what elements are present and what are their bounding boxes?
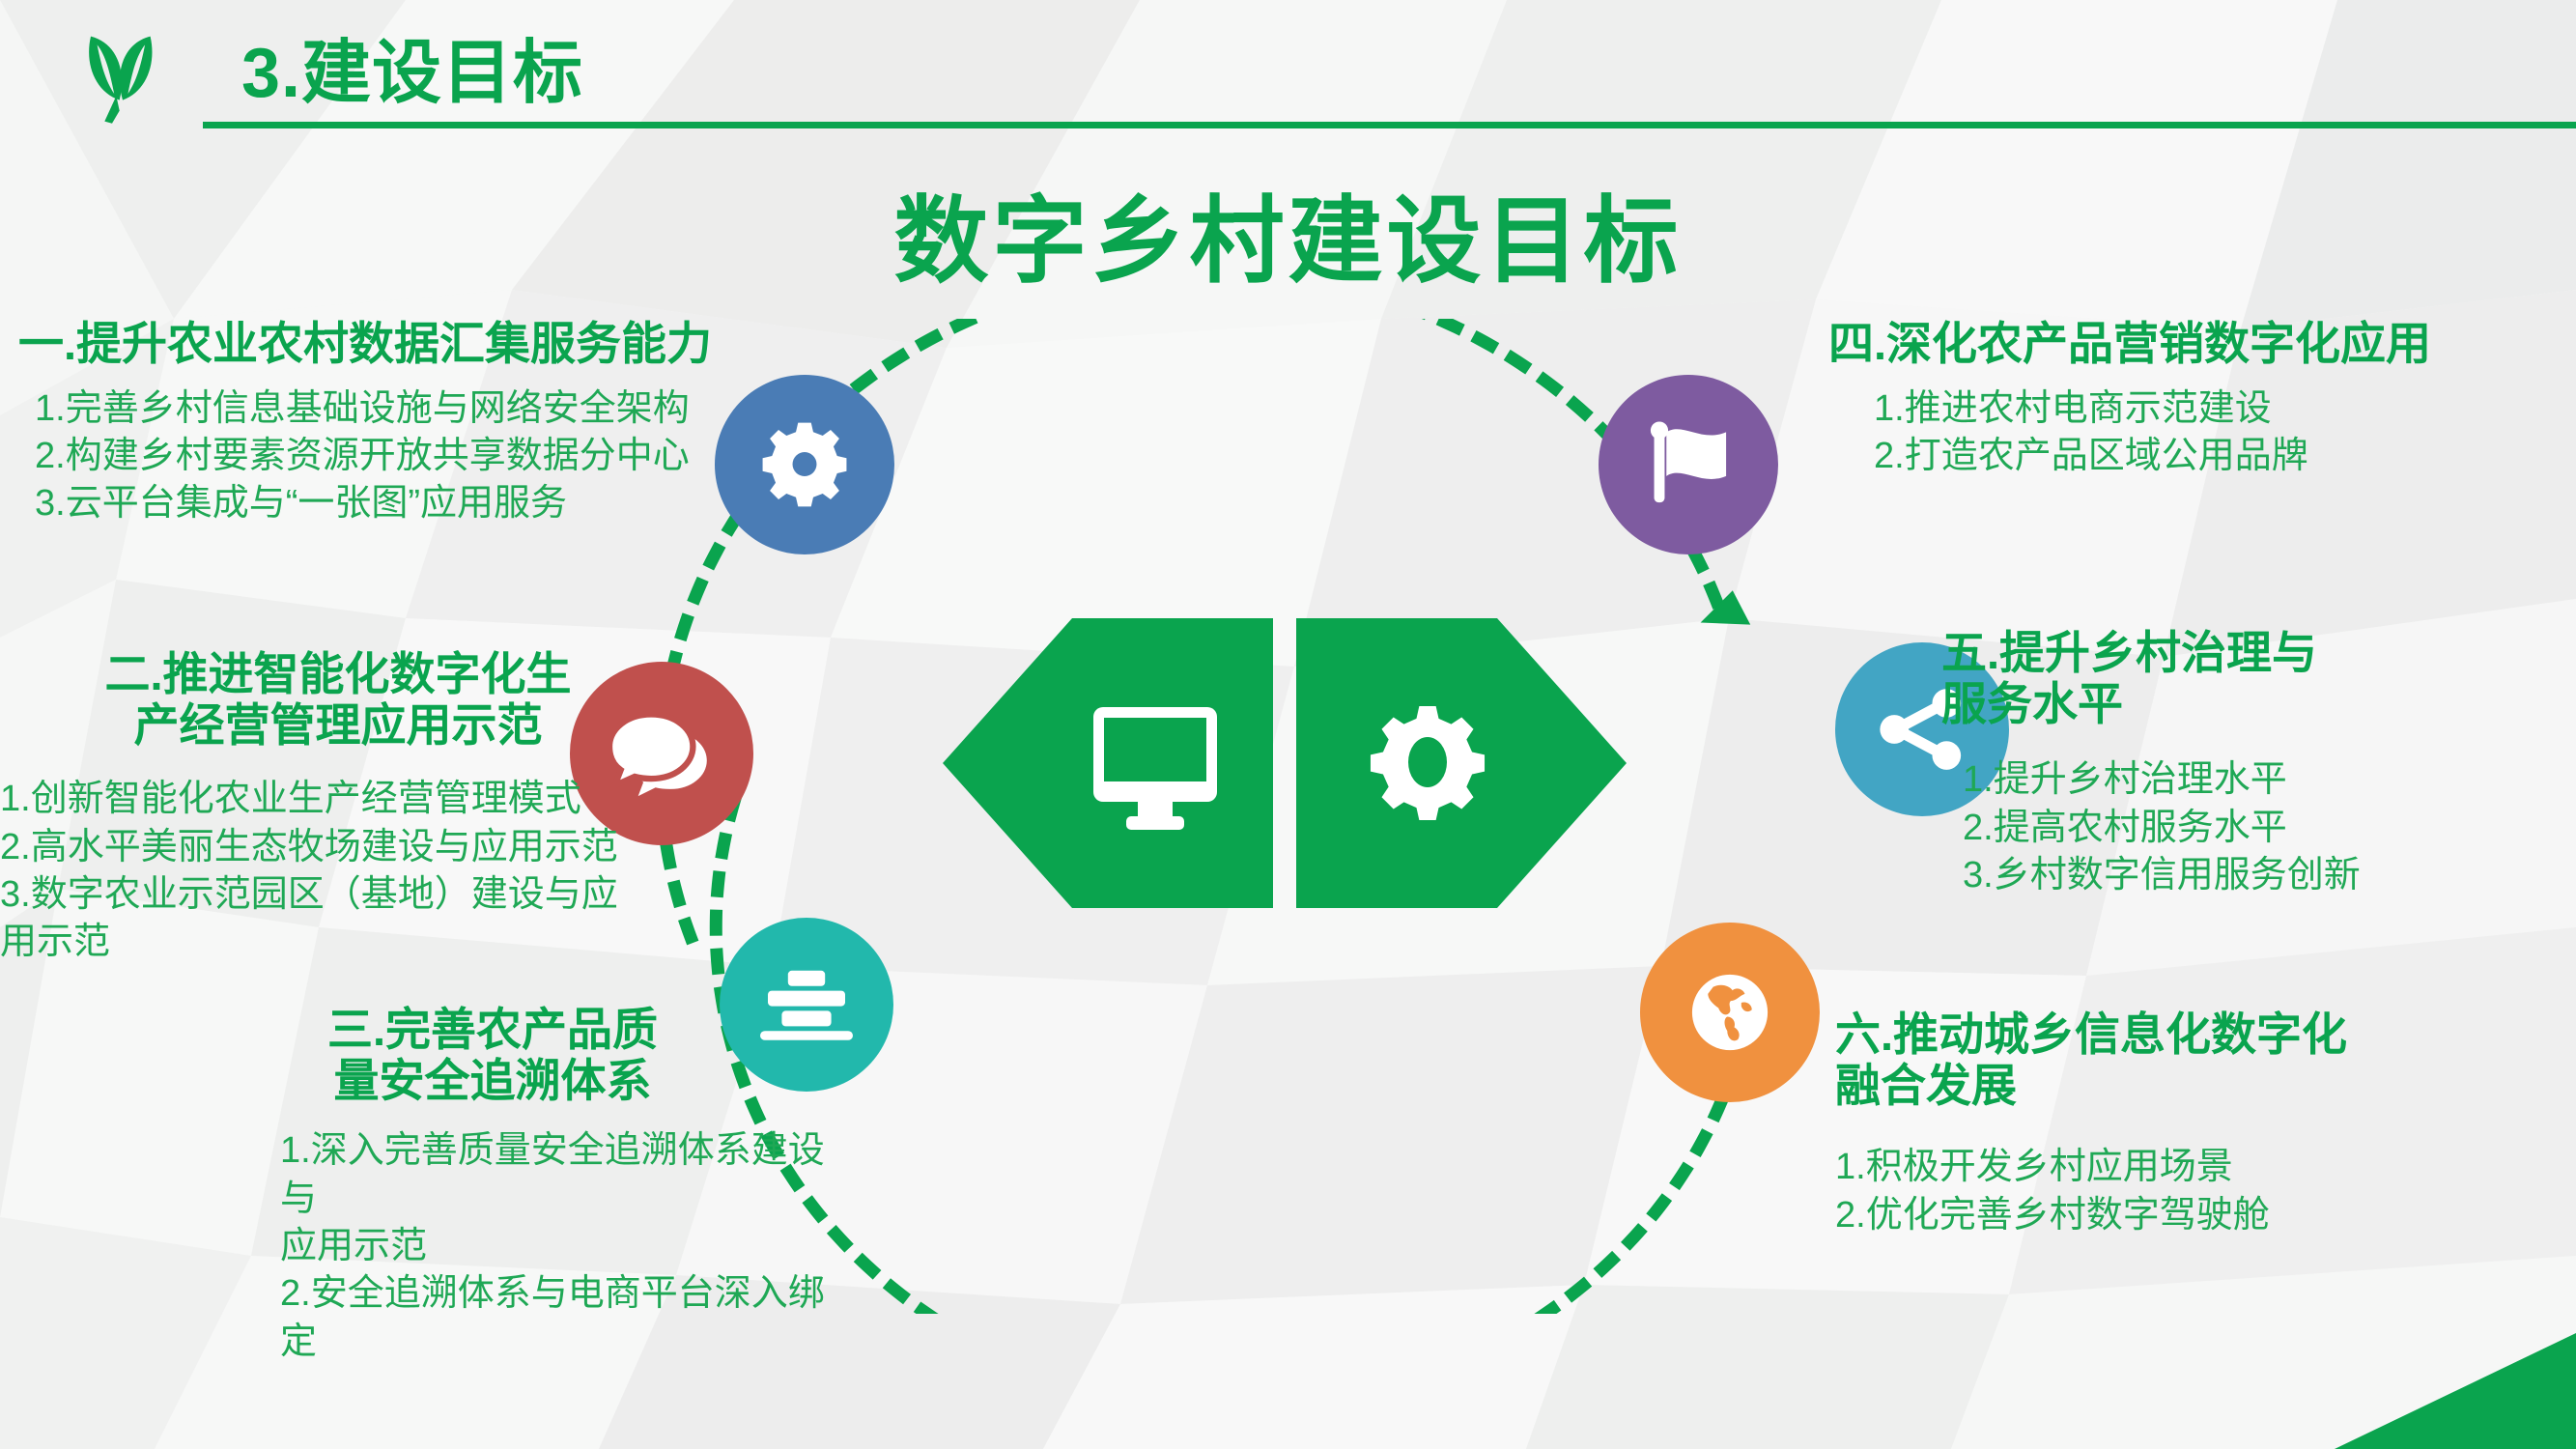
section-five-title: 五.提升乡村治理与 服务水平: [1941, 628, 2560, 729]
header-divider: [203, 122, 2576, 128]
section-five: 五.提升乡村治理与 服务水平 1.提升乡村治理水平 2.提高农村服务水平 3.乡…: [1941, 628, 2560, 899]
section-two-list: 1.创新智能化农业生产经营管理模式 2.高水平美丽生态牧场建设与应用示范 3.数…: [0, 776, 676, 967]
list-item: 3.数字农业示范园区（基地）建设与应 用示范: [0, 871, 676, 967]
section-one-list: 1.完善乡村信息基础设施与网络安全架构 2.构建乡村要素资源开放共享数据分中心 …: [17, 385, 713, 528]
main-title: 数字乡村建设目标: [0, 164, 2576, 301]
badge-section-one[interactable]: [715, 375, 894, 554]
section-three-list: 1.深入完善质量安全追溯体系建设与 应用示范 2.安全追溯体系与电商平台深入绑定: [145, 1127, 840, 1366]
section-two-title: 二.推进智能化数字化生 产经营管理应用示范: [0, 649, 676, 751]
list-item: 1.完善乡村信息基础设施与网络安全架构: [35, 385, 713, 433]
page-title: 3.建设目标: [241, 15, 583, 117]
list-item: 3.云平台集成与“一张图”应用服务: [35, 480, 713, 527]
list-item: 3.乡村数字信用服务创新: [1963, 852, 2560, 899]
section-four: 四.深化农产品营销数字化应用 1.推进农村电商示范建设 2.打造农产品区域公用品…: [1700, 319, 2560, 480]
gear-icon: [1371, 706, 1485, 820]
list-item: 1.推进农村电商示范建设: [1874, 385, 2560, 433]
section-five-list: 1.提升乡村治理水平 2.提高农村服务水平 3.乡村数字信用服务创新: [1941, 756, 2560, 899]
globe-icon: [1682, 964, 1778, 1061]
section-three-title: 三.完善农产品质 量安全追溯体系: [145, 1005, 840, 1106]
list-item: 2.高水平美丽生态牧场建设与应用示范: [0, 824, 676, 871]
list-item: 1.提升乡村治理水平: [1963, 756, 2560, 804]
list-item: 1.积极开发乡村应用场景: [1835, 1144, 2511, 1191]
section-two: 二.推进智能化数字化生 产经营管理应用示范 1.创新智能化农业生产经营管理模式 …: [0, 649, 676, 967]
slide-header: 3.建设目标: [0, 0, 2576, 145]
corner-accent-triangle: [2335, 1333, 2576, 1449]
leaf-icon: [70, 19, 176, 126]
list-item: 1.创新智能化农业生产经营管理模式: [0, 776, 676, 823]
section-one-title: 一.提升农业农村数据汇集服务能力: [17, 319, 713, 370]
list-item: 2.打造农产品区域公用品牌: [1874, 433, 2560, 480]
section-four-title: 四.深化农产品营销数字化应用: [1700, 319, 2560, 370]
section-one: 一.提升农业农村数据汇集服务能力 1.完善乡村信息基础设施与网络安全架构 2.构…: [17, 319, 713, 528]
slide-canvas: 3.建设目标 数字乡村建设目标: [0, 0, 2576, 1449]
center-hexagon-graphic: [927, 580, 1642, 947]
section-four-list: 1.推进农村电商示范建设 2.打造农产品区域公用品牌: [1700, 385, 2560, 481]
list-item: 1.深入完善质量安全追溯体系建设与 应用示范: [280, 1127, 840, 1270]
section-six-title: 六.推动城乡信息化数字化 融合发展: [1835, 1009, 2511, 1111]
badge-section-six[interactable]: [1640, 923, 1820, 1102]
section-three: 三.完善农产品质 量安全追溯体系 1.深入完善质量安全追溯体系建设与 应用示范 …: [145, 1005, 840, 1366]
list-item: 2.优化完善乡村数字驾驶舱: [1835, 1192, 2511, 1239]
gear-icon: [758, 418, 851, 511]
list-item: 2.提高农村服务水平: [1963, 805, 2560, 852]
list-item: 2.构建乡村要素资源开放共享数据分中心: [35, 433, 713, 480]
list-item: 2.安全追溯体系与电商平台深入绑定: [280, 1270, 840, 1366]
section-six-list: 1.积极开发乡村应用场景 2.优化完善乡村数字驾驶舱: [1835, 1144, 2511, 1239]
section-six: 六.推动城乡信息化数字化 融合发展 1.积极开发乡村应用场景 2.优化完善乡村数…: [1835, 1009, 2511, 1239]
